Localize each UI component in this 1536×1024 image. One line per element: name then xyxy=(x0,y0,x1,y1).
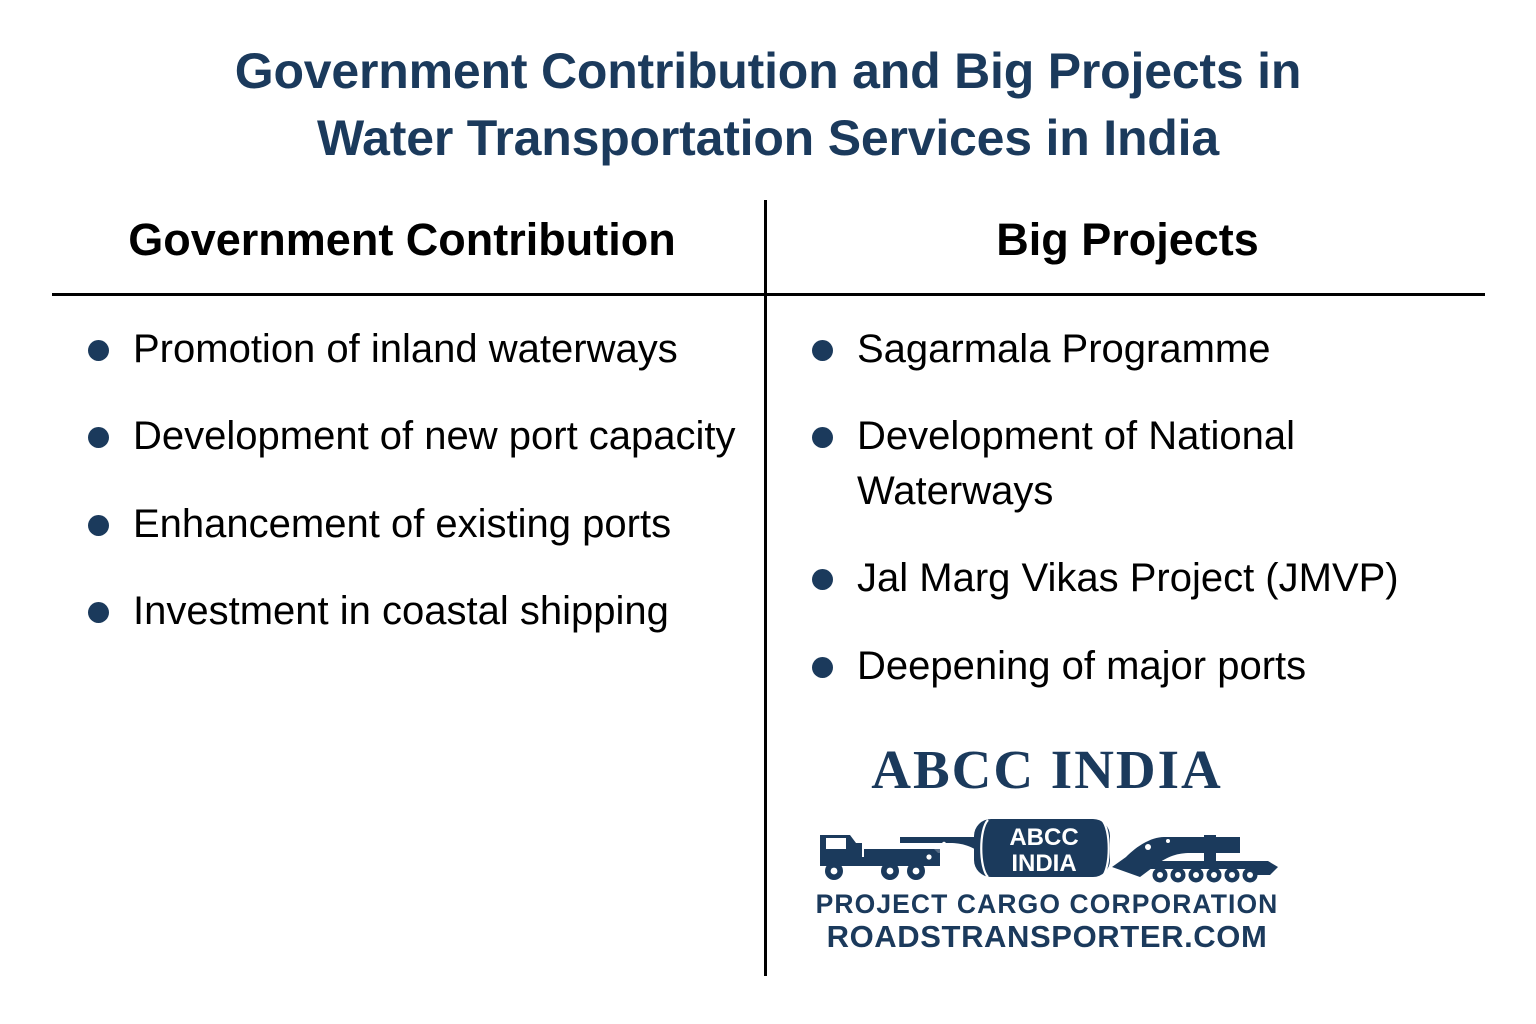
column-header-government-contribution: Government Contribution xyxy=(52,217,752,262)
list-item-label: Deepening of major ports xyxy=(857,639,1502,693)
list-item: Jal Marg Vikas Project (JMVP) xyxy=(802,551,1502,605)
list-item: Deepening of major ports xyxy=(802,639,1502,693)
list-item: Sagarmala Programme xyxy=(802,322,1502,376)
logo-website: ROADSTRANSPORTER.COM xyxy=(812,919,1282,956)
list-item: Enhancement of existing ports xyxy=(78,497,738,551)
column-divider-vertical xyxy=(764,200,767,976)
list-big-projects: Sagarmala Programme Development of Natio… xyxy=(802,322,1502,726)
list-item-label: Jal Marg Vikas Project (JMVP) xyxy=(857,551,1502,605)
list-item: Development of new port capacity xyxy=(78,409,738,463)
bullet-dot-icon xyxy=(812,427,833,448)
heavy-haulage-truck-icon: ABCC INDIA xyxy=(812,801,1282,887)
bullet-dot-icon xyxy=(812,569,833,590)
bullet-dot-icon xyxy=(88,340,109,361)
list-item: Investment in coastal shipping xyxy=(78,584,738,638)
page-title-line1: Government Contribution and Big Projects… xyxy=(235,43,1301,99)
header-divider-horizontal xyxy=(52,293,1485,296)
list-item-label: Promotion of inland waterways xyxy=(133,322,738,376)
bullet-dot-icon xyxy=(812,340,833,361)
list-item: Promotion of inland waterways xyxy=(78,322,738,376)
abcc-india-logo: ABCC INDIA xyxy=(812,742,1282,956)
bullet-dot-icon xyxy=(812,657,833,678)
logo-wordmark: ABCC INDIA xyxy=(812,742,1282,797)
column-header-big-projects: Big Projects xyxy=(770,217,1485,262)
logo-badge-line1: ABCC xyxy=(1009,824,1078,851)
page-title: Government Contribution and Big Projects… xyxy=(0,38,1536,171)
bullet-dot-icon xyxy=(88,602,109,623)
bullet-dot-icon xyxy=(88,515,109,536)
logo-tagline: PROJECT CARGO CORPORATION xyxy=(812,889,1282,919)
page-title-line2: Water Transportation Services in India xyxy=(0,105,1536,172)
list-item-label: Sagarmala Programme xyxy=(857,322,1502,376)
infographic-page: Government Contribution and Big Projects… xyxy=(0,0,1536,1024)
list-item-label: Development of National Waterways xyxy=(857,409,1502,518)
list-government-contribution: Promotion of inland waterways Developmen… xyxy=(78,322,738,672)
bullet-dot-icon xyxy=(88,427,109,448)
list-item: Development of National Waterways xyxy=(802,409,1502,518)
list-item-label: Investment in coastal shipping xyxy=(133,584,738,638)
logo-badge-line2: INDIA xyxy=(1011,850,1076,877)
list-item-label: Development of new port capacity xyxy=(133,409,738,463)
list-item-label: Enhancement of existing ports xyxy=(133,497,738,551)
